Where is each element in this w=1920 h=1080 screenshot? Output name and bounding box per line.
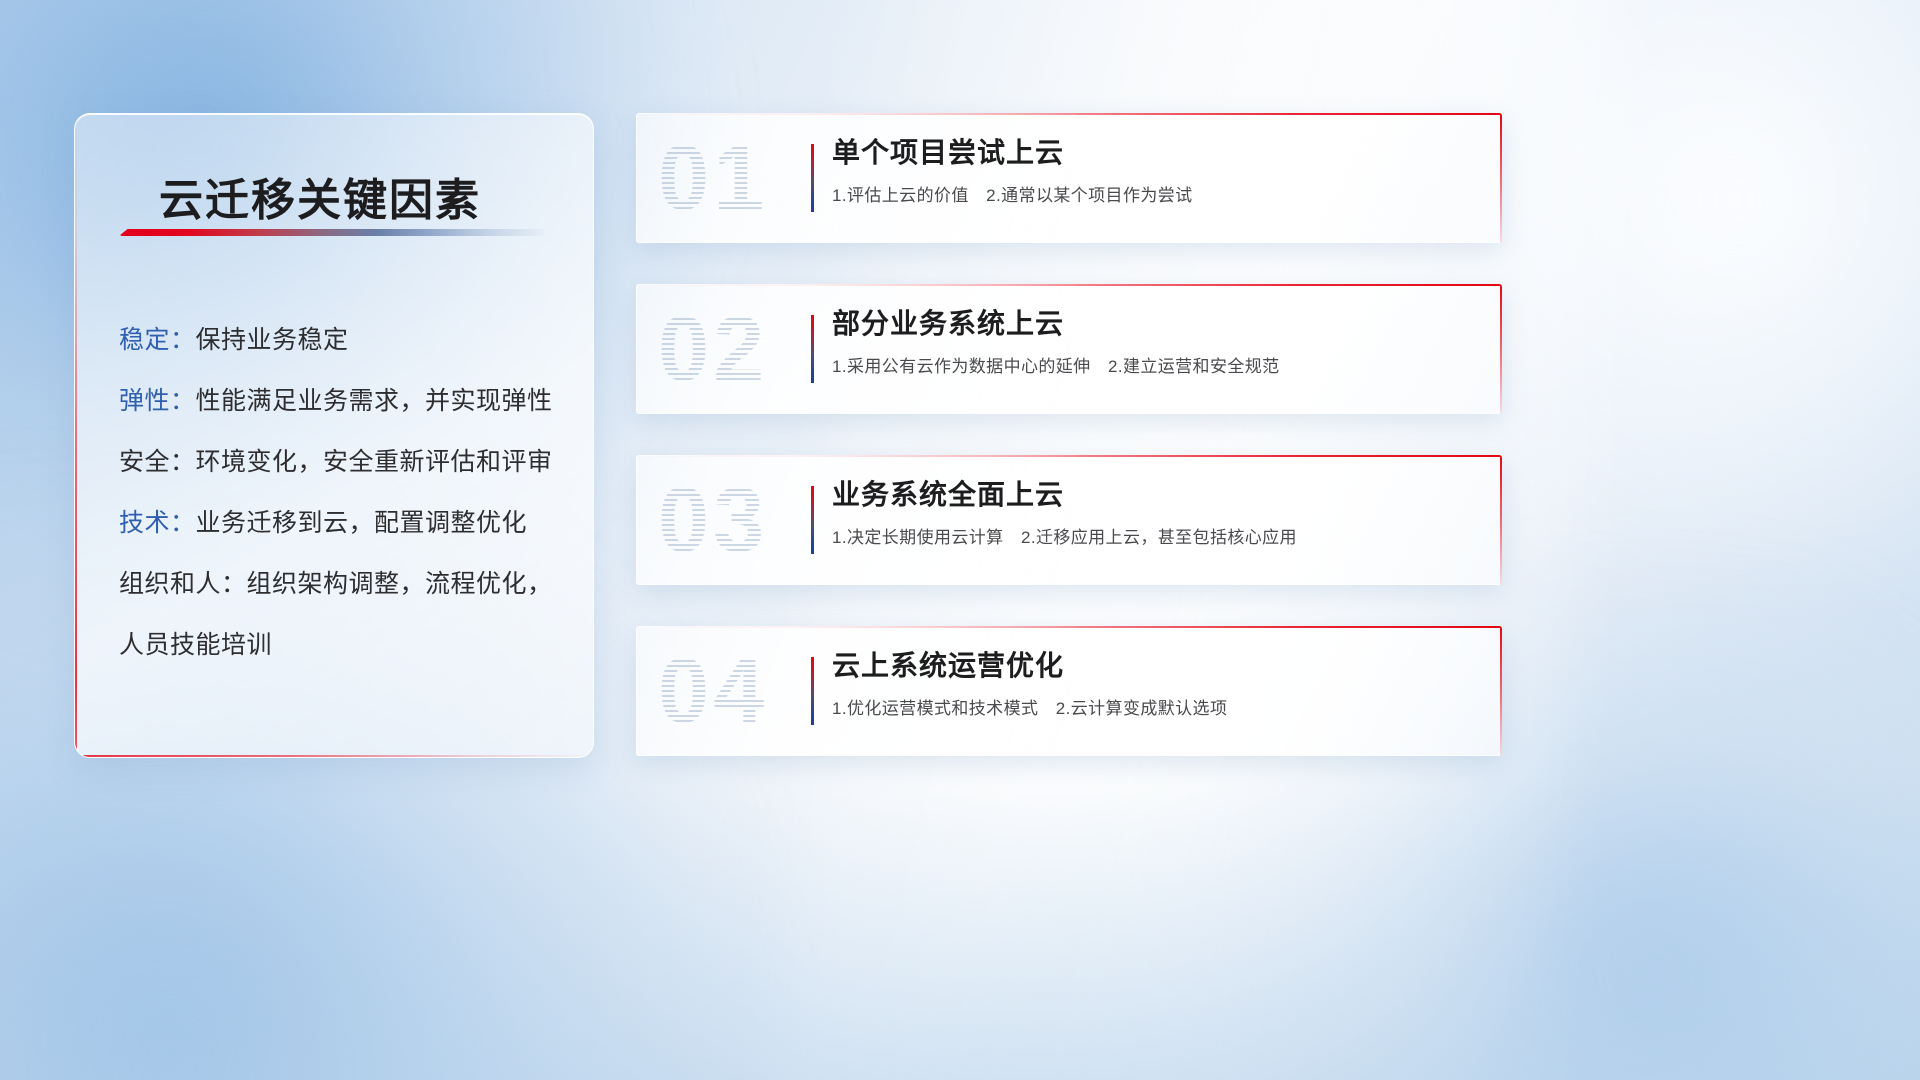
page-title: 云迁移关键因素 bbox=[159, 164, 481, 228]
factor-text: 环境变化，安全重新评估和评审 bbox=[196, 448, 553, 476]
step-card[interactable]: 01 单个项目尝试上云 1.评估上云的价值 2.通常以某个项目作为尝试 bbox=[636, 113, 1502, 243]
factor-text: 组织架构调整，流程优化， bbox=[247, 570, 553, 598]
step-accent-bar bbox=[811, 657, 814, 725]
factor-item: 安全：环境变化，安全重新评估和评审 bbox=[119, 432, 569, 493]
factor-label: 安全： bbox=[119, 448, 196, 476]
background-bottom-fade bbox=[0, 780, 1920, 1080]
step-card[interactable]: 03 业务系统全面上云 1.决定长期使用云计算 2.迁移应用上云，甚至包括核心应… bbox=[636, 455, 1502, 585]
migration-steps-list: 01 单个项目尝试上云 1.评估上云的价值 2.通常以某个项目作为尝试 02 部… bbox=[636, 113, 1502, 756]
factor-item: 稳定：保持业务稳定 bbox=[119, 310, 569, 371]
factor-text: 性能满足业务需求，并实现弹性 bbox=[196, 387, 553, 415]
step-title: 业务系统全面上云 bbox=[832, 477, 1478, 512]
factor-item: 组织和人：组织架构调整，流程优化， bbox=[119, 554, 569, 615]
step-description: 1.采用公有云作为数据中心的延伸 2.建立运营和安全规范 bbox=[832, 352, 1478, 377]
step-number-watermark: 03 bbox=[658, 474, 768, 566]
factor-label: 组织和人： bbox=[119, 570, 247, 598]
card-right-accent-line bbox=[1500, 284, 1502, 414]
factor-text: 保持业务稳定 bbox=[196, 326, 349, 354]
step-description: 1.决定长期使用云计算 2.迁移应用上云，甚至包括核心应用 bbox=[832, 523, 1478, 548]
card-top-accent-line bbox=[636, 455, 1502, 457]
step-title: 云上系统运营优化 bbox=[832, 648, 1478, 683]
step-description: 1.评估上云的价值 2.通常以某个项目作为尝试 bbox=[832, 181, 1478, 206]
step-title: 部分业务系统上云 bbox=[832, 306, 1478, 341]
title-underline-accent bbox=[119, 229, 547, 236]
card-top-accent-line bbox=[636, 113, 1502, 115]
factor-label: 弹性： bbox=[119, 387, 196, 415]
key-factors-panel: 云迁移关键因素 稳定：保持业务稳定 弹性：性能满足业务需求，并实现弹性 安全：环… bbox=[74, 113, 594, 758]
card-top-accent-line bbox=[636, 626, 1502, 628]
card-right-accent-line bbox=[1500, 113, 1502, 243]
factor-text: 业务迁移到云，配置调整优化 bbox=[196, 509, 528, 537]
step-number-watermark: 02 bbox=[658, 303, 768, 395]
factor-label: 稳定： bbox=[119, 326, 196, 354]
step-number-watermark: 01 bbox=[658, 132, 768, 224]
step-title: 单个项目尝试上云 bbox=[832, 135, 1478, 170]
step-text-block: 业务系统全面上云 1.决定长期使用云计算 2.迁移应用上云，甚至包括核心应用 bbox=[832, 477, 1478, 548]
factor-item: 技术：业务迁移到云，配置调整优化 bbox=[119, 493, 569, 554]
card-top-accent-line bbox=[636, 284, 1502, 286]
factor-label: 技术： bbox=[119, 509, 196, 537]
step-description: 1.优化运营模式和技术模式 2.云计算变成默认选项 bbox=[832, 694, 1478, 719]
factor-text: 人员技能培训 bbox=[119, 631, 272, 659]
step-text-block: 部分业务系统上云 1.采用公有云作为数据中心的延伸 2.建立运营和安全规范 bbox=[832, 306, 1478, 377]
card-right-accent-line bbox=[1500, 455, 1502, 585]
step-card[interactable]: 04 云上系统运营优化 1.优化运营模式和技术模式 2.云计算变成默认选项 bbox=[636, 626, 1502, 756]
step-accent-bar bbox=[811, 144, 814, 212]
card-right-accent-line bbox=[1500, 626, 1502, 756]
step-accent-bar bbox=[811, 315, 814, 383]
step-text-block: 单个项目尝试上云 1.评估上云的价值 2.通常以某个项目作为尝试 bbox=[832, 135, 1478, 206]
step-text-block: 云上系统运营优化 1.优化运营模式和技术模式 2.云计算变成默认选项 bbox=[832, 648, 1478, 719]
factor-item-continuation: 人员技能培训 bbox=[119, 615, 569, 676]
step-accent-bar bbox=[811, 486, 814, 554]
factor-item: 弹性：性能满足业务需求，并实现弹性 bbox=[119, 371, 569, 432]
factor-list: 稳定：保持业务稳定 弹性：性能满足业务需求，并实现弹性 安全：环境变化，安全重新… bbox=[119, 310, 569, 676]
step-number-watermark: 04 bbox=[658, 645, 768, 737]
step-card[interactable]: 02 部分业务系统上云 1.采用公有云作为数据中心的延伸 2.建立运营和安全规范 bbox=[636, 284, 1502, 414]
